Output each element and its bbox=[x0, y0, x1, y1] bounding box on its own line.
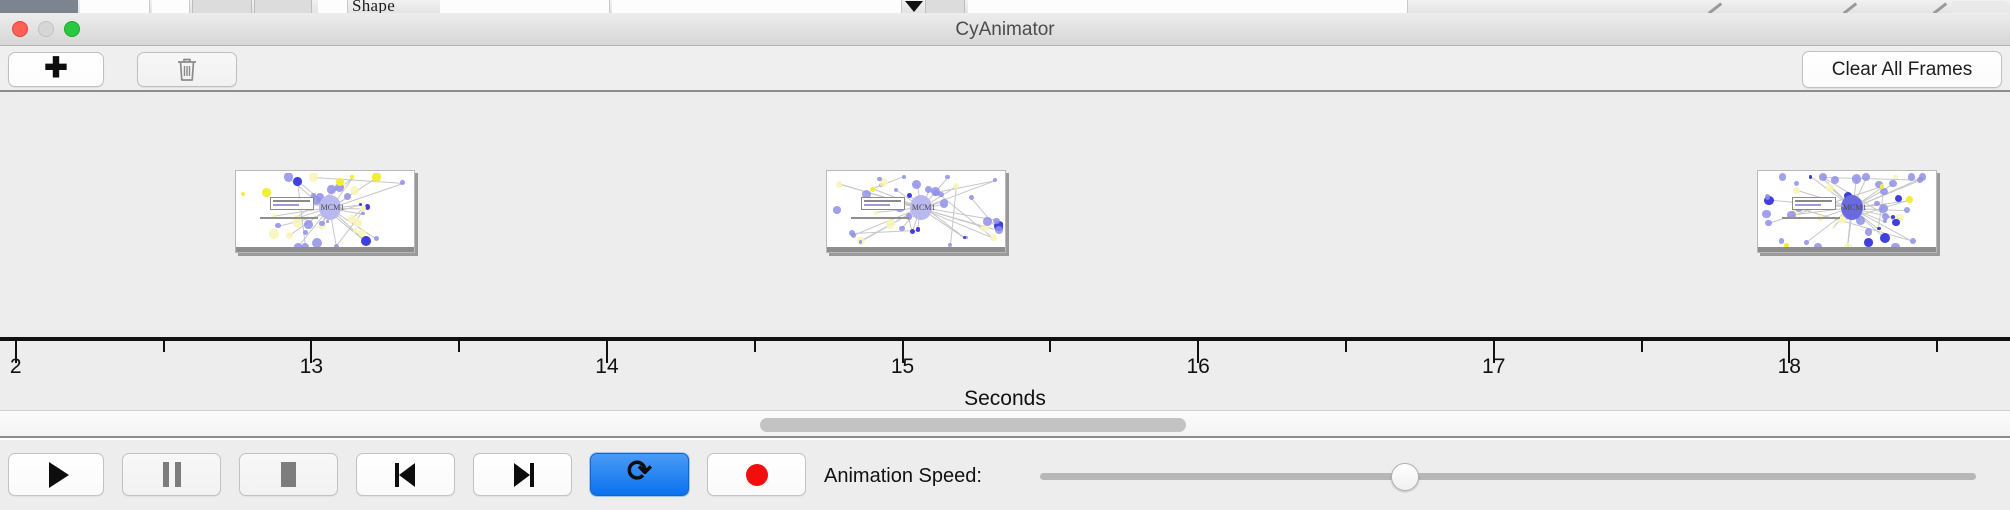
network-annotation-text bbox=[864, 200, 901, 202]
network-annotation-text bbox=[273, 200, 310, 202]
network-node bbox=[1765, 220, 1771, 226]
ruler-tick-label: 17 bbox=[1482, 355, 1505, 379]
network-node bbox=[886, 219, 895, 228]
network-node bbox=[262, 188, 271, 197]
animation-speed-slider-track[interactable] bbox=[1040, 473, 1976, 480]
network-hub-label: MCM1 bbox=[1843, 203, 1867, 212]
network-edge bbox=[314, 177, 403, 184]
ruler-tick-minor bbox=[458, 341, 460, 352]
network-node bbox=[836, 181, 843, 188]
network-node bbox=[326, 220, 329, 223]
network-node bbox=[983, 217, 992, 226]
play-button[interactable] bbox=[8, 453, 104, 496]
network-node bbox=[1852, 174, 1861, 183]
network-annotation-text bbox=[1795, 200, 1832, 202]
network-node bbox=[1874, 201, 1880, 207]
network-node bbox=[361, 212, 364, 215]
network-node bbox=[1831, 176, 1839, 184]
pause-button[interactable] bbox=[122, 453, 221, 496]
network-node bbox=[1862, 173, 1870, 181]
loop-icon: ⟳ bbox=[627, 457, 652, 487]
cyanimator-window: Shape CyAnimator ✚ Clear All Frames bbox=[0, 0, 2010, 510]
skip-end-icon bbox=[510, 462, 536, 488]
record-button[interactable] bbox=[707, 453, 806, 496]
background-panel-c bbox=[318, 0, 348, 13]
resize-arrow-icon-2 bbox=[1840, 0, 1862, 13]
network-node bbox=[899, 226, 905, 232]
network-node bbox=[286, 232, 293, 239]
network-node bbox=[969, 195, 974, 200]
stop-button[interactable] bbox=[239, 453, 338, 496]
network-node bbox=[1882, 213, 1889, 220]
ruler-tick-label: 2 bbox=[10, 355, 22, 379]
frame-thumbnail: MCM1 bbox=[829, 173, 1003, 250]
ruler-tick-label: 13 bbox=[300, 355, 323, 379]
ruler-tick-minor bbox=[1345, 341, 1347, 352]
background-tab-b bbox=[254, 0, 312, 13]
ruler-tick-minor bbox=[1049, 341, 1051, 352]
loop-button[interactable]: ⟳ bbox=[590, 453, 689, 496]
record-icon bbox=[746, 464, 768, 486]
network-node bbox=[1865, 228, 1872, 235]
network-node bbox=[833, 206, 841, 214]
network-node bbox=[304, 220, 313, 229]
network-node bbox=[1879, 204, 1888, 213]
network-annotation-text bbox=[864, 204, 890, 206]
skip-to-end-button[interactable] bbox=[473, 453, 572, 496]
network-node bbox=[953, 183, 959, 189]
frame-thumbnail: MCM1 bbox=[238, 173, 412, 250]
frame-shadow-bar bbox=[1758, 247, 1936, 252]
network-node bbox=[1880, 233, 1890, 243]
network-node bbox=[319, 221, 324, 226]
network-node bbox=[1832, 226, 1835, 229]
network-node bbox=[284, 173, 293, 182]
network-node bbox=[940, 199, 949, 208]
background-dark-panel bbox=[0, 0, 78, 13]
network-node bbox=[907, 193, 912, 198]
timeline-scrollbar[interactable] bbox=[0, 410, 2010, 438]
network-node bbox=[1917, 177, 1923, 183]
network-node bbox=[1762, 210, 1771, 219]
network-node bbox=[344, 193, 351, 200]
network-node bbox=[360, 205, 365, 210]
resize-arrow-icon-3 bbox=[1930, 0, 1952, 13]
network-node bbox=[359, 203, 362, 206]
network-node bbox=[910, 229, 915, 234]
timeline-frame[interactable]: MCM1 bbox=[235, 170, 415, 253]
network-node bbox=[275, 223, 280, 228]
network-hub-label: MCM1 bbox=[912, 203, 936, 212]
network-node bbox=[859, 240, 862, 243]
network-node bbox=[912, 180, 921, 189]
network-node bbox=[1793, 187, 1800, 194]
network-node bbox=[870, 187, 875, 192]
network-node bbox=[361, 236, 371, 246]
frame-shadow-bar bbox=[236, 247, 414, 252]
network-node bbox=[269, 229, 279, 239]
network-node bbox=[1779, 238, 1784, 243]
toolbar: ✚ Clear All Frames bbox=[0, 46, 2010, 92]
network-node bbox=[993, 178, 997, 182]
network-node bbox=[902, 175, 906, 179]
timeline-panel[interactable]: MCM1MCM1MCM1 2131415161718 Seconds bbox=[0, 92, 2010, 410]
ruler-tick-label: 16 bbox=[1186, 355, 1209, 379]
clear-all-frames-button[interactable]: Clear All Frames bbox=[1802, 51, 2002, 88]
resize-arrow-icon-1 bbox=[1705, 0, 1727, 13]
window-title: CyAnimator bbox=[0, 19, 2010, 41]
timeline-frame[interactable]: MCM1 bbox=[826, 170, 1006, 253]
pause-icon bbox=[163, 462, 181, 487]
network-node bbox=[353, 228, 358, 233]
network-caption bbox=[260, 217, 318, 219]
trash-icon bbox=[175, 56, 199, 83]
network-node bbox=[1892, 219, 1900, 227]
background-panel-b bbox=[152, 0, 190, 13]
network-caption bbox=[1782, 217, 1840, 219]
background-triangle-icon bbox=[905, 1, 923, 12]
network-node bbox=[1893, 175, 1898, 180]
ruler-tick-minor bbox=[1936, 341, 1938, 352]
network-node bbox=[1877, 227, 1880, 230]
background-tab-c bbox=[925, 0, 965, 13]
ruler-tick-minor bbox=[1641, 341, 1643, 352]
ruler-tick-minor bbox=[754, 341, 756, 352]
network-node bbox=[1779, 173, 1786, 180]
timeline-frame[interactable]: MCM1 bbox=[1757, 170, 1937, 253]
network-node bbox=[945, 175, 950, 180]
skip-start-icon bbox=[393, 462, 419, 488]
network-node bbox=[374, 236, 379, 241]
title-bar: CyAnimator bbox=[0, 13, 2010, 46]
network-node bbox=[309, 173, 318, 182]
background-panel-a bbox=[80, 0, 150, 13]
network-hub-label: MCM1 bbox=[321, 203, 345, 212]
network-caption bbox=[851, 217, 909, 219]
scrollbar-thumb[interactable] bbox=[760, 418, 1186, 432]
network-node bbox=[894, 188, 898, 192]
network-node bbox=[293, 177, 302, 186]
network-node bbox=[350, 175, 354, 179]
stop-icon bbox=[281, 462, 296, 487]
ruler-tick-minor bbox=[163, 341, 165, 352]
skip-to-start-button[interactable] bbox=[356, 453, 455, 496]
background-window-strip: Shape bbox=[0, 0, 2010, 13]
background-panel-f bbox=[968, 0, 1408, 13]
network-node bbox=[938, 192, 944, 198]
plus-icon: ✚ bbox=[44, 54, 67, 82]
background-panel-d bbox=[440, 0, 610, 13]
background-window-corner bbox=[1952, 1, 2010, 13]
network-node bbox=[241, 192, 245, 196]
network-node bbox=[993, 218, 999, 224]
network-node bbox=[1804, 240, 1809, 245]
network-annotation-text bbox=[1795, 204, 1821, 206]
network-node bbox=[990, 234, 997, 241]
network-node bbox=[1910, 238, 1916, 244]
ruler-tick-label: 18 bbox=[1778, 355, 1801, 379]
network-node bbox=[874, 211, 878, 215]
network-node bbox=[1889, 180, 1896, 187]
network-node bbox=[849, 230, 855, 236]
ruler-baseline bbox=[0, 337, 2010, 341]
network-node bbox=[348, 215, 356, 223]
network-node bbox=[1904, 207, 1910, 213]
axis-title: Seconds bbox=[0, 387, 2010, 410]
add-frame-button[interactable]: ✚ bbox=[8, 52, 104, 87]
network-node bbox=[995, 226, 1003, 234]
network-node bbox=[400, 180, 405, 185]
network-node bbox=[1883, 219, 1887, 223]
frame-thumbnail: MCM1 bbox=[1760, 173, 1934, 250]
background-tab-a bbox=[192, 0, 252, 13]
background-window-label: Shape bbox=[352, 0, 395, 13]
network-node bbox=[916, 227, 921, 232]
play-icon bbox=[49, 462, 69, 488]
animation-speed-slider-thumb[interactable] bbox=[1391, 463, 1419, 491]
ruler-tick-label: 14 bbox=[595, 355, 618, 379]
transport-bar: ⟳ Animation Speed: bbox=[0, 440, 2010, 510]
ruler-tick-label: 15 bbox=[891, 355, 914, 379]
network-node bbox=[1906, 196, 1913, 203]
network-node bbox=[350, 186, 359, 195]
delete-frame-button[interactable] bbox=[137, 52, 237, 87]
network-node bbox=[1864, 238, 1873, 247]
frame-shadow-bar bbox=[827, 247, 1005, 252]
network-node bbox=[372, 173, 381, 182]
network-node bbox=[1765, 194, 1770, 199]
network-node bbox=[1826, 184, 1834, 192]
network-node bbox=[1908, 173, 1915, 180]
network-annotation-text bbox=[273, 204, 299, 206]
animation-speed-label: Animation Speed: bbox=[824, 465, 982, 488]
background-panel-e bbox=[612, 0, 902, 13]
network-node bbox=[1794, 181, 1799, 186]
